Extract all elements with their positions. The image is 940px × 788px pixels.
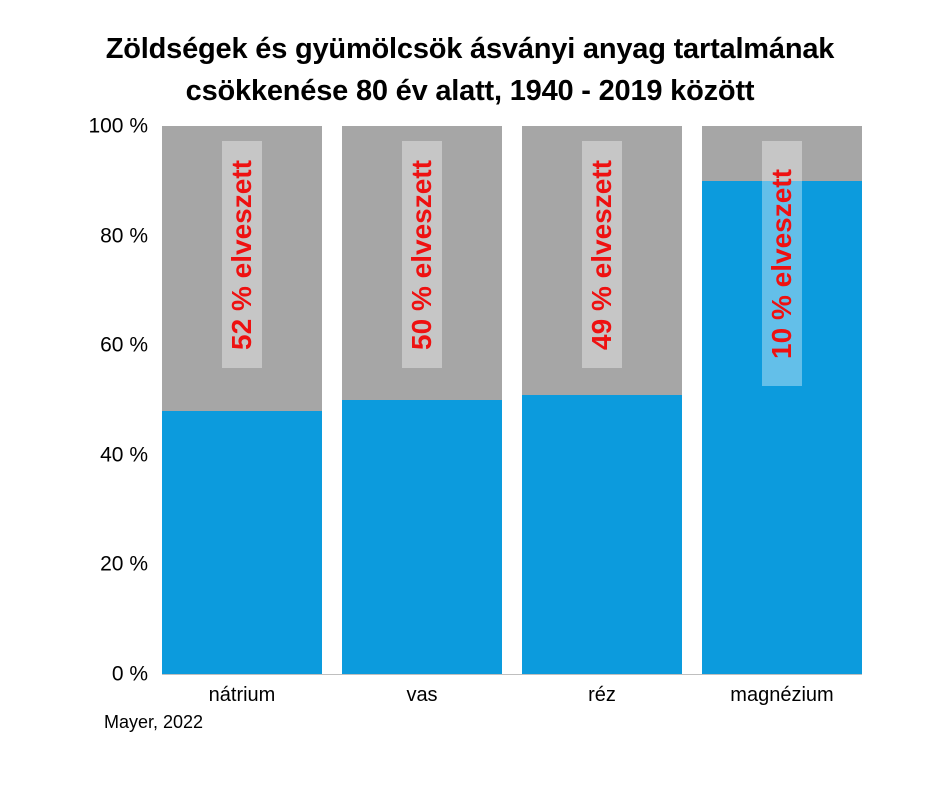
data-label-natrium: 52 % elveszett	[222, 141, 262, 368]
x-tick-label-vas: vas	[342, 681, 502, 709]
x-tick-label-magnezium: magnézium	[702, 681, 862, 709]
source-note: Mayer, 2022	[104, 712, 203, 733]
data-label-natrium-text: 52 % elveszett	[228, 160, 256, 350]
data-label-vas-text: 50 % elveszett	[408, 160, 436, 350]
bar-group-magnezium[interactable]: 10 % elveszett	[702, 126, 862, 674]
data-label-magnezium: 10 % elveszett	[762, 141, 802, 386]
y-tick-label-20: 20 %	[100, 554, 148, 575]
data-label-magnezium-text: 10 % elveszett	[768, 169, 796, 359]
bar-segment-remaining-vas	[342, 400, 502, 674]
bar-segment-remaining-rez	[522, 395, 682, 674]
data-label-vas: 50 % elveszett	[402, 141, 442, 368]
plot-area: 52 % elveszett 50 % elveszett 49 % elves…	[162, 126, 862, 674]
y-tick-label-0: 0 %	[112, 664, 148, 685]
y-axis: 100 % 80 % 60 % 40 % 20 % 0 %	[0, 0, 162, 788]
chart-title: Zöldségek és gyümölcsök ásványi anyag ta…	[0, 28, 940, 112]
y-tick-label-100: 100 %	[88, 116, 148, 137]
chart-title-line-1: Zöldségek és gyümölcsök ásványi anyag ta…	[106, 33, 834, 65]
y-tick-label-60: 60 %	[100, 335, 148, 356]
chart-title-line-2: csökkenése 80 év alatt, 1940 - 2019 közö…	[0, 70, 940, 112]
bar-group-rez[interactable]: 49 % elveszett	[522, 126, 682, 674]
bar-group-vas[interactable]: 50 % elveszett	[342, 126, 502, 674]
x-tick-label-natrium: nátrium	[162, 681, 322, 709]
data-label-rez-text: 49 % elveszett	[588, 160, 616, 350]
y-tick-label-80: 80 %	[100, 225, 148, 246]
bar-group-natrium[interactable]: 52 % elveszett	[162, 126, 322, 674]
data-label-rez: 49 % elveszett	[582, 141, 622, 368]
y-tick-label-40: 40 %	[100, 444, 148, 465]
x-axis-line	[162, 674, 862, 675]
x-tick-label-rez: réz	[522, 681, 682, 709]
bar-segment-remaining-natrium	[162, 411, 322, 674]
chart-container: Zöldségek és gyümölcsök ásványi anyag ta…	[0, 0, 940, 788]
x-axis: nátrium vas réz magnézium	[162, 681, 862, 715]
